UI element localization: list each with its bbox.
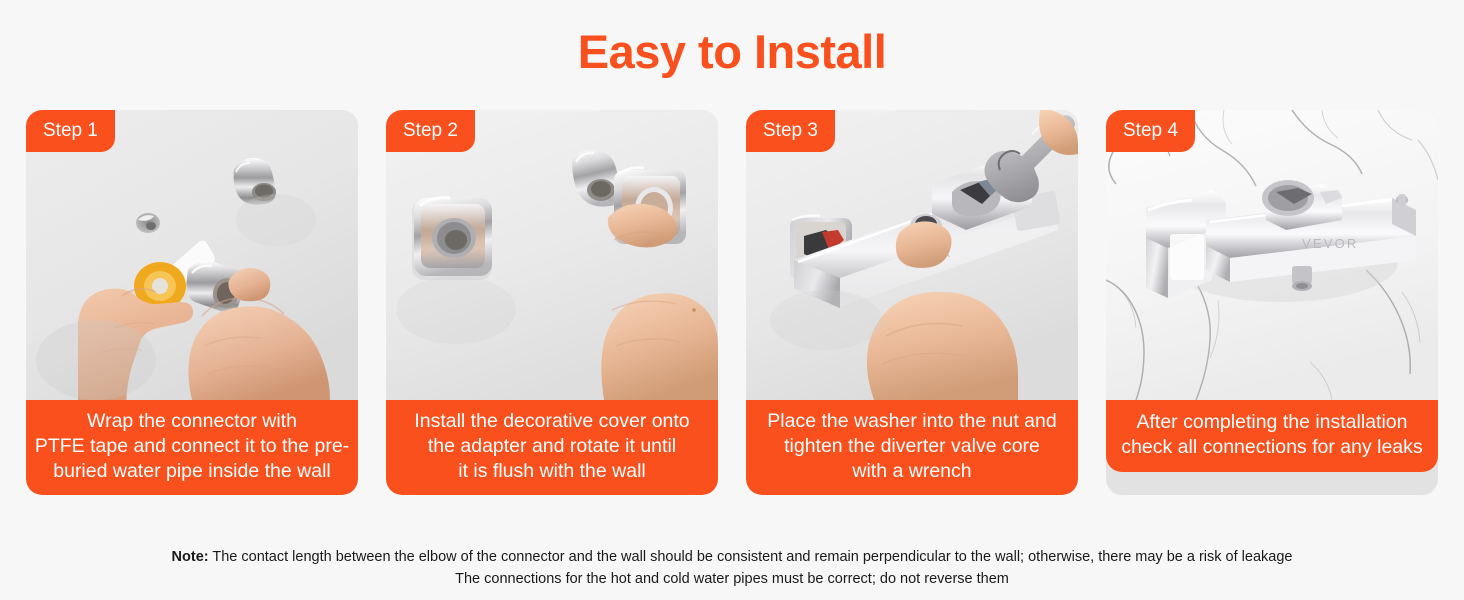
step-photo-1: Step 1 (26, 110, 358, 400)
faucet-outlet (1292, 266, 1312, 291)
photo-3-illustration: R (746, 110, 1078, 400)
wall-hole (136, 213, 160, 233)
caption-line: with a wrench (754, 459, 1070, 484)
mounted-decorative-cover (412, 198, 492, 280)
note-line-2: The connections for the hot and cold wat… (0, 568, 1464, 590)
step-badge-1: Step 1 (26, 110, 115, 152)
step-caption-1: Wrap the connector with PTFE tape and co… (26, 400, 358, 495)
photo-1-illustration (26, 110, 358, 400)
note-line-1-text: The contact length between the elbow of … (209, 549, 1293, 565)
caption-line: it is flush with the wall (394, 459, 710, 484)
step-badge-2: Step 2 (386, 110, 475, 152)
caption-line: check all connections for any leaks (1114, 435, 1430, 460)
caption-line: buried water pipe inside the wall (34, 459, 350, 484)
page-title: Easy to Install (0, 26, 1464, 78)
caption-line: the adapter and rotate it until (394, 434, 710, 459)
caption-line: After completing the installation (1114, 410, 1430, 435)
step-card-3: R (746, 110, 1078, 495)
photo-4-illustration: VEVOR (1106, 110, 1438, 400)
step-caption-4: After completing the installation check … (1106, 400, 1438, 472)
note-block: Note: The contact length between the elb… (0, 546, 1464, 590)
step-caption-3: Place the washer into the nut and tighte… (746, 400, 1078, 495)
caption-line: tighten the diverter valve core (754, 434, 1070, 459)
faucet-brand-text: VEVOR (1302, 236, 1359, 251)
step-photo-2: Step 2 (386, 110, 718, 400)
step-caption-2: Install the decorative cover onto the ad… (386, 400, 718, 495)
step-badge-3: Step 3 (746, 110, 835, 152)
note-line-1: Note: The contact length between the elb… (0, 546, 1464, 568)
steps-container: Step 1 Wrap the connector with PTFE tape… (26, 110, 1438, 495)
step-card-2: Step 2 Install the decorative cover onto… (386, 110, 718, 495)
caption-line: Wrap the connector with (34, 409, 350, 434)
step-photo-4: VEVOR (1106, 110, 1438, 400)
note-label: Note: (172, 549, 209, 565)
step-photo-3: R (746, 110, 1078, 400)
step-card-1: Step 1 Wrap the connector with PTFE tape… (26, 110, 358, 495)
photo-2-illustration (386, 110, 718, 400)
step-badge-4: Step 4 (1106, 110, 1195, 152)
caption-line: PTFE tape and connect it to the pre- (34, 434, 350, 459)
caption-line: Place the washer into the nut and (754, 409, 1070, 434)
step-card-4: VEVOR (1106, 110, 1438, 495)
caption-line: Install the decorative cover onto (394, 409, 710, 434)
